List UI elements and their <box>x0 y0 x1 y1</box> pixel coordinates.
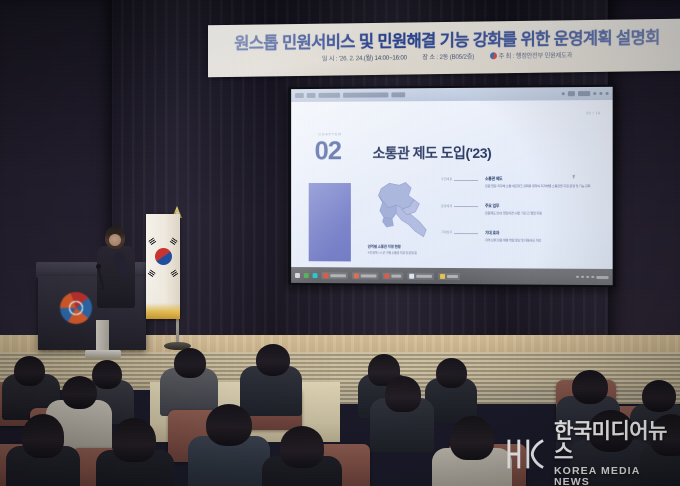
projected-desktop: 02 / 14 CHAPTER 02 소통관 제도 도입('23) <box>291 87 613 285</box>
bullet-heading: 소통관 제도 <box>485 177 604 182</box>
conference-hall-photo: 원스톱 민원서비스 및 민원해결 기능 강화를 위한 운영계획 설명회 일 시 … <box>0 0 680 486</box>
taskbar-window-label <box>330 274 346 277</box>
speaker-face <box>109 234 121 246</box>
explorer-icon <box>323 273 328 278</box>
browser-address-bar[interactable] <box>343 92 388 97</box>
taskbar-window-label <box>391 274 401 277</box>
bullet-body: 민원 현장·지자체 소통 네트워크 강화를 위하여 지자체별 소통관을 지정·운… <box>485 184 604 189</box>
slide-title: 소통관 제도 도입('23) <box>373 143 492 163</box>
taskbar-search-icon[interactable] <box>304 273 309 278</box>
slide-bullet: 추진배경 소통관 제도 민원 현장·지자체 소통 네트워크 강화를 위하여 지자… <box>485 177 604 189</box>
mail-icon <box>440 273 445 278</box>
taskbar-window-mail[interactable] <box>438 272 460 279</box>
taeguk-symbol-icon <box>155 248 172 265</box>
event-banner-meta-host: 주 최 : 행정안전부 민원제도과 <box>490 52 573 60</box>
regional-map-graphic <box>366 179 435 241</box>
browser-tab-secondary[interactable] <box>391 92 405 97</box>
taskbar-window-doc[interactable] <box>382 272 403 279</box>
presentation-slide: 02 / 14 CHAPTER 02 소통관 제도 도입('23) <box>291 100 613 269</box>
window-close-icon[interactable] <box>606 92 609 95</box>
trigram-icon <box>148 269 156 277</box>
flag-gold-fringe <box>146 303 180 319</box>
bullet-body: 지역 단위 민원 해결 역량 향상 및 대응속도 개선 <box>485 238 604 243</box>
watermark-english-label: KOREA MEDIA NEWS <box>554 466 670 486</box>
map-caption-body: 4개 권역 / 시·군·구별 소통관 지정 및 운영 중 <box>368 251 435 256</box>
browser-menu-icon[interactable] <box>562 92 565 95</box>
browser-tab[interactable] <box>318 93 340 98</box>
taskbar-window-label <box>361 274 377 277</box>
tray-network-icon[interactable] <box>586 276 589 279</box>
windows-taskbar[interactable] <box>291 267 613 285</box>
browser-window-controls[interactable] <box>562 91 609 96</box>
slide-chapter-number: 02 <box>315 137 341 163</box>
trigram-icon <box>148 237 156 245</box>
taskbar-system-tray[interactable] <box>576 275 609 278</box>
event-banner-meta-datetime: 일 시 : '26. 2. 24.(월) 14:00~16:00 <box>322 55 407 63</box>
bullet-lead-label: 기대효과 <box>441 230 452 234</box>
taskbar-window-explorer[interactable] <box>321 272 348 279</box>
taskbar-window-label <box>416 274 432 277</box>
watermark: 한국미디어뉴스 KOREA MEDIA NEWS <box>504 432 670 476</box>
event-banner: 원스톱 민원서비스 및 민원해결 기능 강화를 위한 운영계획 설명회 일 시 … <box>208 19 680 78</box>
event-banner-host-label: 주 최 : 행정안전부 민원제도과 <box>499 52 573 60</box>
window-maximize-icon[interactable] <box>599 92 602 95</box>
bullet-lead-label: 추진배경 <box>441 177 452 181</box>
bullet-heading: 기대 효과 <box>485 231 604 236</box>
bullet-leader-line: 운영체계 <box>454 206 478 207</box>
bullet-heading: 주요 업무 <box>485 204 604 209</box>
event-banner-meta-place: 장 소 : 2동 (B05/2층) <box>422 54 474 62</box>
taegukgi-flag-icon <box>146 214 180 319</box>
tray-icon[interactable] <box>576 276 579 279</box>
browser-profile-icon[interactable] <box>578 91 590 96</box>
hk-monogram-logo-icon <box>504 436 548 472</box>
watermark-korean-label: 한국미디어뉴스 <box>554 421 670 463</box>
browser-extension-icon[interactable] <box>568 91 575 96</box>
browser-back-icon[interactable] <box>295 93 304 98</box>
map-icon <box>366 179 435 241</box>
bullet-leader-line: 추진배경 <box>454 179 478 180</box>
tray-volume-icon[interactable] <box>591 276 594 279</box>
microphone-icon <box>96 264 101 269</box>
browser-forward-icon[interactable] <box>307 93 316 98</box>
browser-icon <box>354 273 359 278</box>
taskbar-window-browser[interactable] <box>352 272 379 279</box>
slides-icon <box>409 273 414 278</box>
korea-government-emblem-icon <box>60 292 92 324</box>
bullet-body: 민원제도 안내, 현장의견 수렴, 기관 간 협업 지원 <box>485 211 604 216</box>
window-minimize-icon[interactable] <box>593 92 596 95</box>
bullet-lead-label: 운영체계 <box>441 204 452 208</box>
slide-bullet: 운영체계 주요 업무 민원제도 안내, 현장의견 수렴, 기관 간 협업 지원 <box>485 204 604 216</box>
taskbar-start-icon[interactable] <box>295 273 300 278</box>
trigram-icon <box>170 269 178 277</box>
korea-government-emblem-icon <box>490 52 497 59</box>
slide-accent-block <box>309 183 351 261</box>
taskbar-taskview-icon[interactable] <box>313 273 318 278</box>
slide-bullet-list: 추진배경 소통관 제도 민원 현장·지자체 소통 네트워크 강화를 위하여 지자… <box>485 177 604 258</box>
taskbar-clock[interactable] <box>596 275 608 278</box>
slide-page-indicator: 02 / 14 <box>586 111 600 115</box>
document-icon <box>384 273 389 278</box>
tray-icon[interactable] <box>581 276 584 279</box>
bullet-leader-line: 기대효과 <box>454 233 478 234</box>
slide-bullet: 기대효과 기대 효과 지역 단위 민원 해결 역량 향상 및 대응속도 개선 <box>485 231 604 243</box>
map-caption-title: 권역별 소통관 지정 현황 <box>368 245 401 250</box>
trigram-icon <box>170 237 178 245</box>
taskbar-window-slides[interactable] <box>407 272 434 279</box>
projection-screen: 02 / 14 CHAPTER 02 소통관 제도 도입('23) <box>288 85 616 287</box>
taskbar-window-label <box>447 274 458 277</box>
